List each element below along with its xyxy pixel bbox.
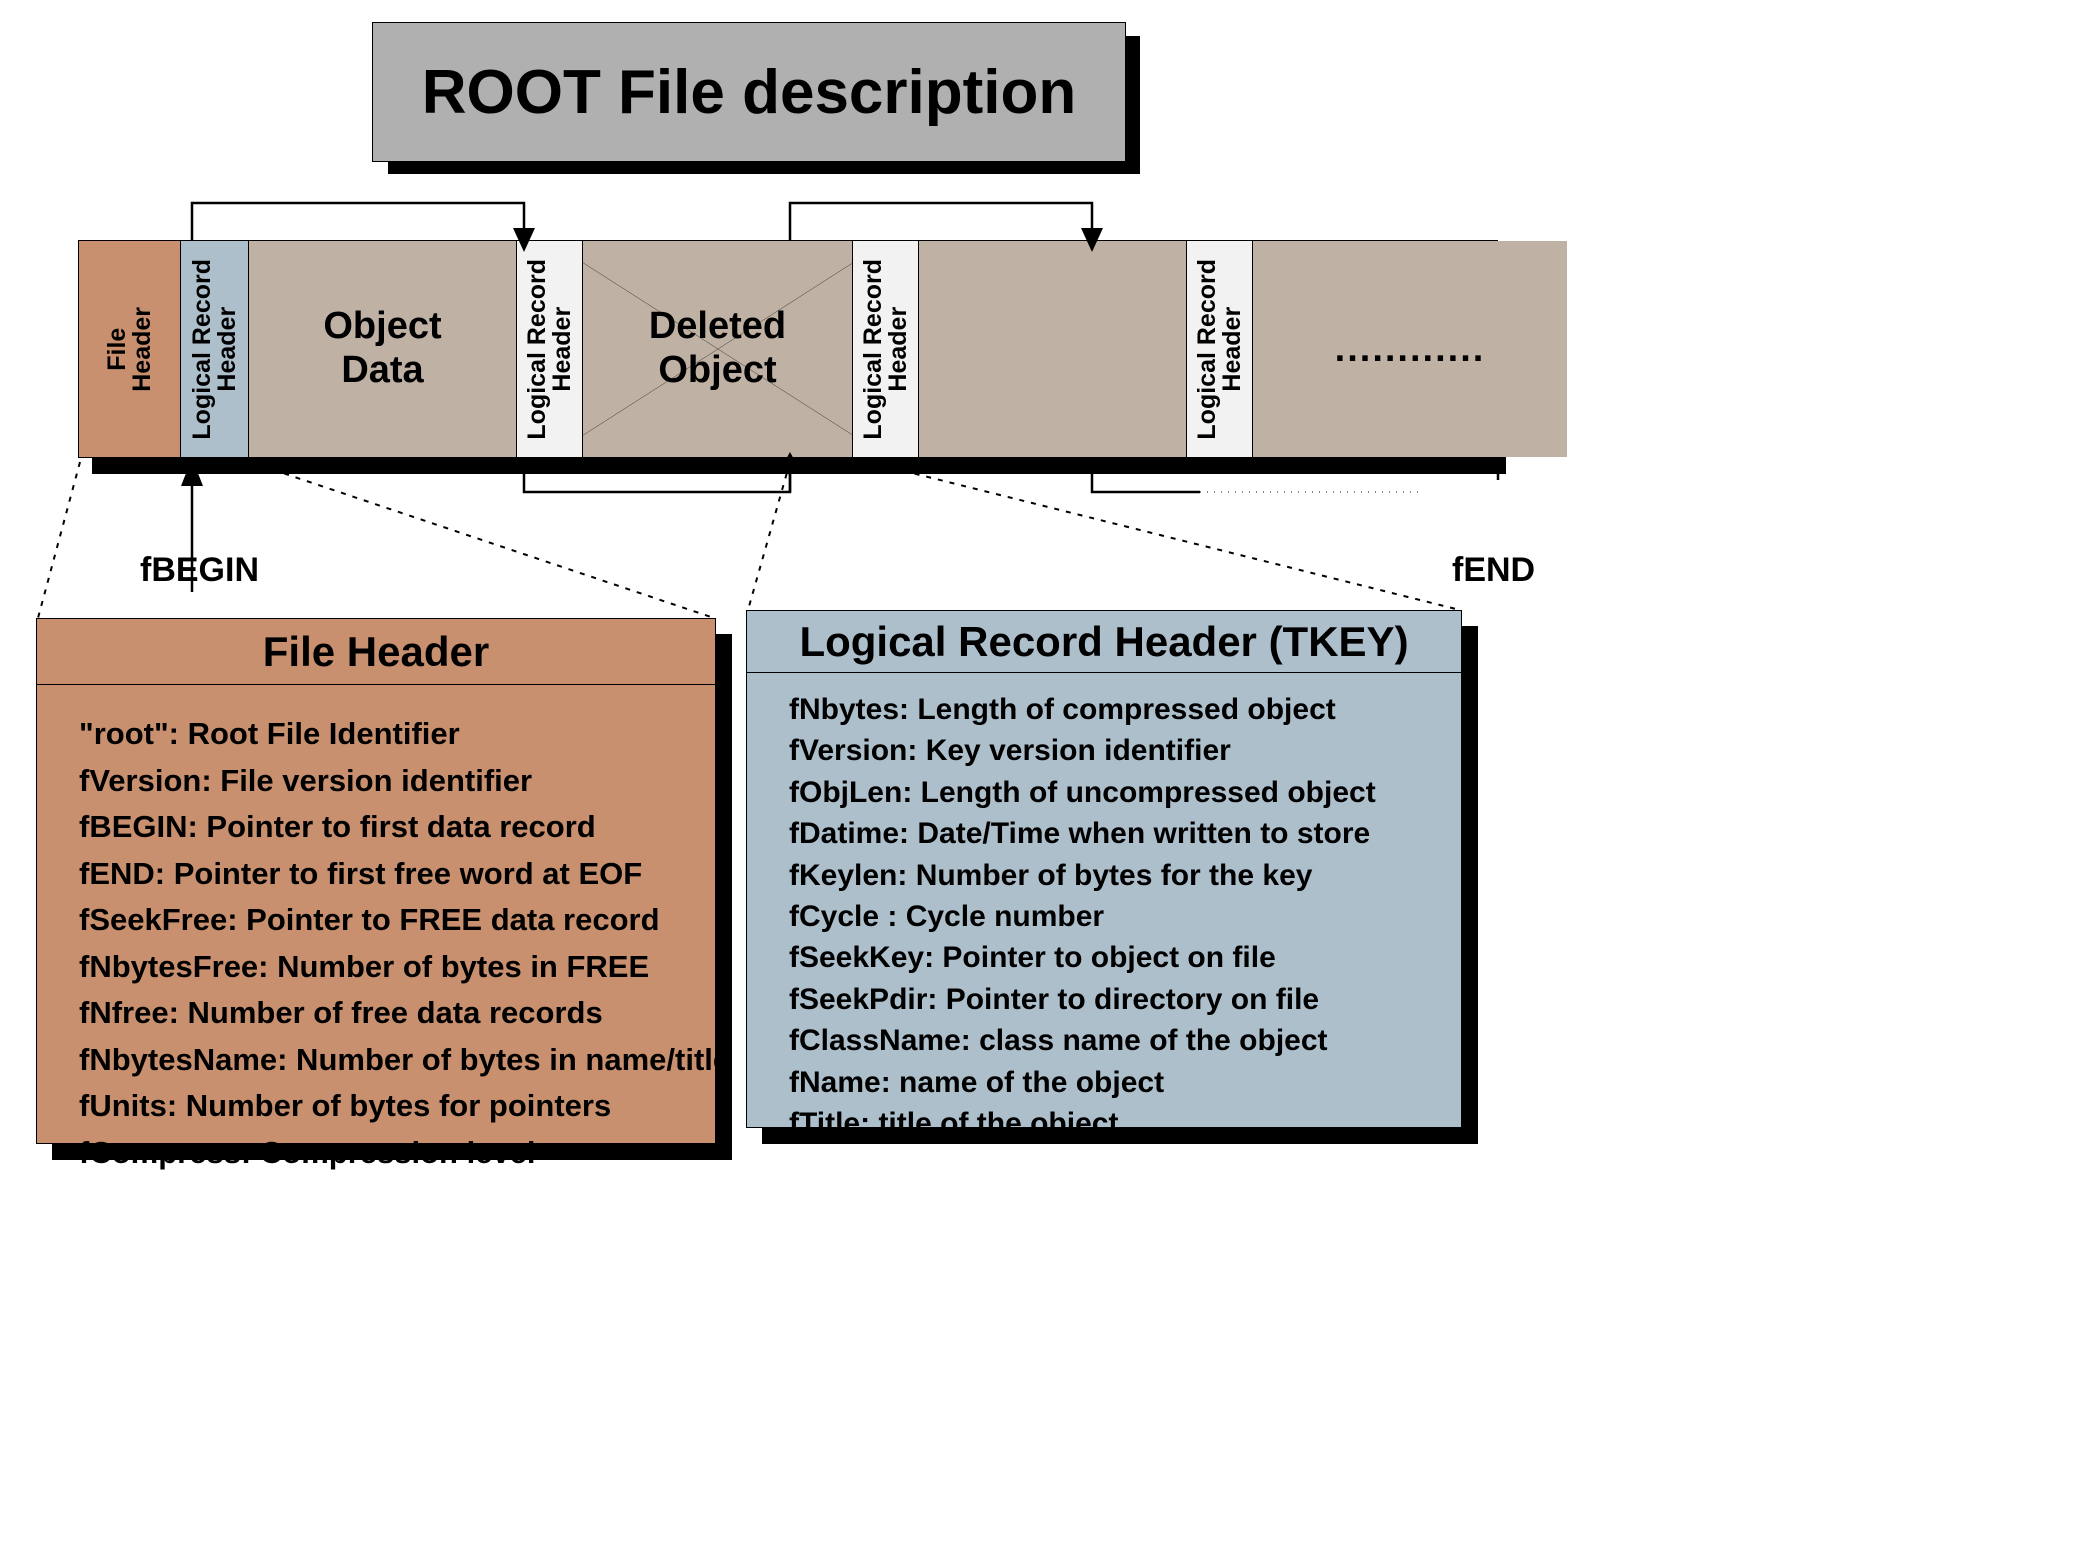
bar-segment-logical-record-header-3: Logical RecordHeader (853, 241, 919, 457)
file-header-field-list: "root": Root File Identifier fVersion: F… (37, 685, 715, 1176)
list-item: fKeylen: Number of bytes for the key (789, 855, 1461, 896)
bar-segment-label-vertical: FileHeader (105, 307, 155, 392)
file-header-panel-header: File Header (37, 619, 715, 685)
list-item: fTitle: title of the object (789, 1103, 1461, 1144)
list-item: fUnits: Number of bytes for pointers (79, 1083, 715, 1130)
bar-segment-label: Object Data (323, 305, 441, 392)
bar-segment-more-records: ............ (1253, 241, 1567, 457)
bar-segment-logical-record-header-1: Logical RecordHeader (181, 241, 249, 457)
fbegin-label: fBEGIN (140, 551, 259, 590)
file-header-leader-left (38, 462, 80, 618)
bar-segment-logical-record-header-4: Logical RecordHeader (1187, 241, 1253, 457)
list-item: fName: name of the object (789, 1062, 1461, 1103)
tkey-leader-left (748, 462, 790, 610)
main-bar-shadow-bottom (92, 458, 1506, 474)
root-file-layout-bar: FileHeaderLogical RecordHeaderObject Dat… (78, 240, 1498, 458)
list-item: fNbytes: Length of compressed object (789, 689, 1461, 730)
list-item: fSeekKey: Pointer to object on file (789, 937, 1461, 978)
list-item: fNfree: Number of free data records (79, 990, 715, 1037)
list-item: fNbytesName: Number of bytes in name/tit… (79, 1037, 715, 1084)
fend-label: fEND (1452, 551, 1535, 590)
file-header-items: "root": Root File Identifier fVersion: F… (79, 711, 715, 1176)
bar-segment-file-header: FileHeader (79, 241, 181, 457)
file-header-leader-right (250, 462, 714, 618)
tkey-items: fNbytes: Length of compressed object fVe… (789, 689, 1461, 1144)
list-item: fSeekPdir: Pointer to directory on file (789, 979, 1461, 1020)
bar-segment-label-vertical: Logical RecordHeader (861, 259, 911, 440)
file-header-panel-title: File Header (263, 628, 489, 676)
bar-segment-label-vertical: Logical RecordHeader (1195, 259, 1245, 440)
tkey-field-list: fNbytes: Length of compressed object fVe… (747, 673, 1461, 1144)
file-header-panel: File Header "root": Root File Identifier… (36, 618, 716, 1144)
list-item: fSeekFree: Pointer to FREE data record (79, 897, 715, 944)
list-item: fCycle : Cycle number (789, 896, 1461, 937)
bar-segment-label-vertical: Logical RecordHeader (190, 259, 240, 440)
tkey-leader-right (868, 462, 1460, 610)
list-item: fVersion: File version identifier (79, 758, 715, 805)
tkey-panel: Logical Record Header (TKEY) fNbytes: Le… (746, 610, 1462, 1128)
bar-segment-label-vertical: Logical RecordHeader (525, 259, 575, 440)
list-item: fDatime: Date/Time when written to store (789, 813, 1461, 854)
record-pointer-arrow-1 (192, 203, 524, 240)
bar-segment-label: Deleted Object (649, 305, 786, 392)
bar-segment-object-data: Object Data (249, 241, 517, 457)
bar-segment-object-data-2 (919, 241, 1187, 457)
list-item: fBEGIN: Pointer to first data record (79, 804, 715, 851)
list-item: fObjLen: Length of uncompressed object (789, 772, 1461, 813)
title-box: ROOT File description (372, 22, 1126, 162)
tkey-panel-header: Logical Record Header (TKEY) (747, 611, 1461, 673)
bar-segment-ellipsis: ............ (1335, 328, 1486, 371)
record-pointer-arrow-2 (790, 203, 1092, 240)
list-item: fEND: Pointer to first free word at EOF (79, 851, 715, 898)
page-title: ROOT File description (422, 57, 1077, 128)
list-item: fNbytesFree: Number of bytes in FREE (79, 944, 715, 991)
list-item: fCompress: Compression level (79, 1130, 715, 1177)
tkey-panel-title: Logical Record Header (TKEY) (799, 618, 1408, 666)
list-item: fClassName: class name of the object (789, 1020, 1461, 1061)
bar-segment-logical-record-header-2: Logical RecordHeader (517, 241, 583, 457)
list-item: "root": Root File Identifier (79, 711, 715, 758)
list-item: fVersion: Key version identifier (789, 730, 1461, 771)
bar-segment-deleted-object: Deleted Object (583, 241, 853, 457)
